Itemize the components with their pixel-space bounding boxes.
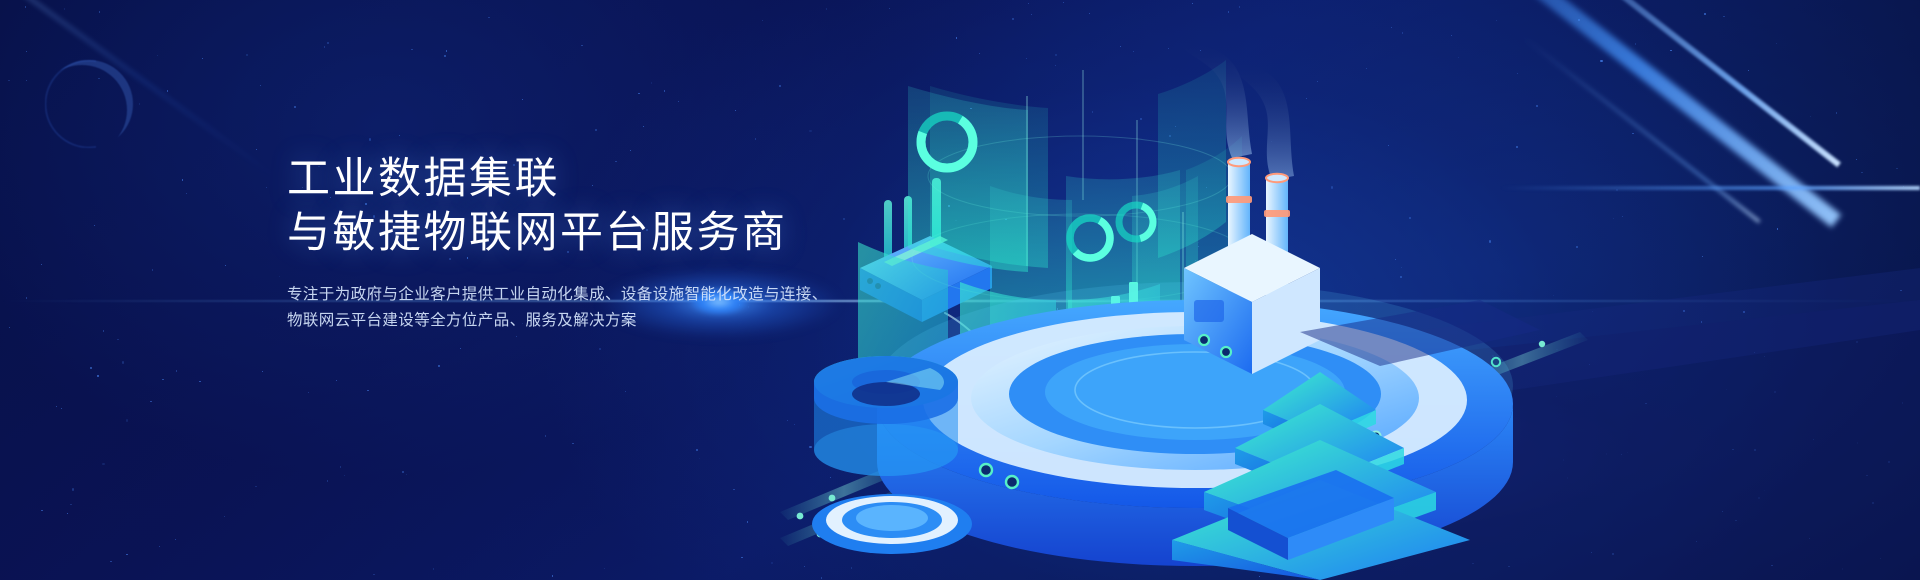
star-particle <box>595 129 597 131</box>
star-particle <box>369 138 371 140</box>
star-particle <box>256 149 257 150</box>
star-particle <box>159 546 160 547</box>
star-particle <box>438 365 439 366</box>
star-particle <box>260 85 261 86</box>
star-particle <box>262 371 263 372</box>
star-particle <box>126 419 128 421</box>
star-particle <box>266 187 267 188</box>
star-particle <box>246 54 247 55</box>
star-particle <box>152 269 153 270</box>
star-particle <box>699 458 700 459</box>
star-particle <box>97 375 98 376</box>
star-particle <box>167 90 168 91</box>
subtitle-line-2: 物联网云平台建设等全方位产品、服务及解决方案 <box>287 308 817 334</box>
star-particle <box>110 561 111 562</box>
star-particle <box>61 408 62 409</box>
star-particle <box>102 463 104 465</box>
star-particle <box>340 466 341 467</box>
star-particle <box>572 443 573 444</box>
star-particle <box>202 58 203 59</box>
star-particle <box>199 381 200 382</box>
star-particle <box>402 471 404 473</box>
star-particle <box>446 50 447 51</box>
star-particle <box>176 370 177 371</box>
subtitle-line-1: 专注于为政府与企业客户提供工业自动化集成、设备设施智能化改造与连接、 <box>287 282 817 308</box>
star-particle <box>733 489 734 490</box>
star-particle <box>643 126 644 127</box>
star-particle <box>126 554 127 555</box>
star-particle <box>90 367 91 368</box>
star-particle <box>41 264 42 265</box>
star-particle <box>651 82 652 83</box>
star-particle <box>162 379 163 380</box>
star-particle <box>25 6 26 7</box>
star-particle <box>411 49 412 50</box>
star-particle <box>225 265 226 266</box>
star-particle <box>70 504 71 505</box>
star-particle <box>460 348 461 349</box>
star-particle <box>604 568 605 569</box>
star-particle <box>433 568 434 569</box>
star-particle <box>294 106 296 108</box>
star-particle <box>367 390 368 391</box>
crescent-moon-icon <box>45 60 133 148</box>
ring-chart-cylinder <box>814 356 958 476</box>
star-particle <box>327 42 329 44</box>
star-particle <box>26 80 27 81</box>
star-particle <box>139 103 140 104</box>
star-particle <box>488 17 489 18</box>
star-particle <box>327 480 328 481</box>
star-particle <box>64 8 65 9</box>
star-particle <box>308 392 309 393</box>
star-particle <box>26 297 27 298</box>
star-particle <box>747 521 748 522</box>
star-particle <box>522 99 523 100</box>
star-particle <box>336 380 337 381</box>
star-particle <box>157 55 158 56</box>
star-particle <box>224 516 225 517</box>
headline-line-1: 工业数据集联 <box>287 155 560 203</box>
star-particle <box>755 138 756 139</box>
headline-line-2: 与敏捷物联网平台服务商 <box>287 209 788 257</box>
star-particle <box>625 391 626 392</box>
star-particle <box>41 510 42 511</box>
star-particle <box>373 574 374 575</box>
star-particle <box>99 11 100 12</box>
star-particle <box>255 486 256 487</box>
star-particle <box>9 327 10 328</box>
star-particle <box>103 330 104 331</box>
star-particle <box>444 55 445 56</box>
hero-banner: 工业数据集联 与敏捷物联网平台服务商 专注于为政府与企业客户提供工业自动化集成、… <box>0 0 1920 580</box>
star-particle <box>406 474 407 475</box>
hero-illustration <box>780 0 1920 580</box>
hero-copy: 工业数据集联 与敏捷物联网平台服务商 专注于为政府与企业客户提供工业自动化集成、… <box>287 152 907 334</box>
page-title: 工业数据集联 与敏捷物联网平台服务商 <box>287 152 907 260</box>
star-particle <box>638 93 639 94</box>
star-particle <box>696 449 698 451</box>
star-particle <box>762 20 763 21</box>
star-particle <box>26 51 27 52</box>
star-particle <box>67 513 68 514</box>
star-particle <box>94 225 95 226</box>
star-particle <box>516 336 517 337</box>
star-particle <box>664 90 665 91</box>
star-particle <box>186 193 187 194</box>
star-particle <box>735 110 736 111</box>
star-particle <box>581 45 582 46</box>
star-particle <box>545 435 546 436</box>
star-particle <box>279 276 280 277</box>
star-particle <box>8 80 9 81</box>
star-particle <box>150 401 151 402</box>
star-particle <box>56 406 57 407</box>
data-ring-base <box>812 494 972 554</box>
star-particle <box>122 361 124 363</box>
star-particle <box>344 475 345 476</box>
star-particle <box>599 348 601 350</box>
hero-subtitle: 专注于为政府与企业客户提供工业自动化集成、设备设施智能化改造与连接、 物联网云平… <box>287 282 817 334</box>
star-particle <box>399 135 400 136</box>
star-particle <box>552 575 553 576</box>
star-particle <box>678 101 679 102</box>
star-particle <box>324 46 325 47</box>
star-particle <box>182 179 183 180</box>
star-particle <box>771 562 773 564</box>
star-particle <box>72 488 74 490</box>
star-particle <box>741 557 742 558</box>
star-particle <box>175 539 176 540</box>
light-streak-left <box>0 0 280 181</box>
star-particle <box>117 339 118 340</box>
